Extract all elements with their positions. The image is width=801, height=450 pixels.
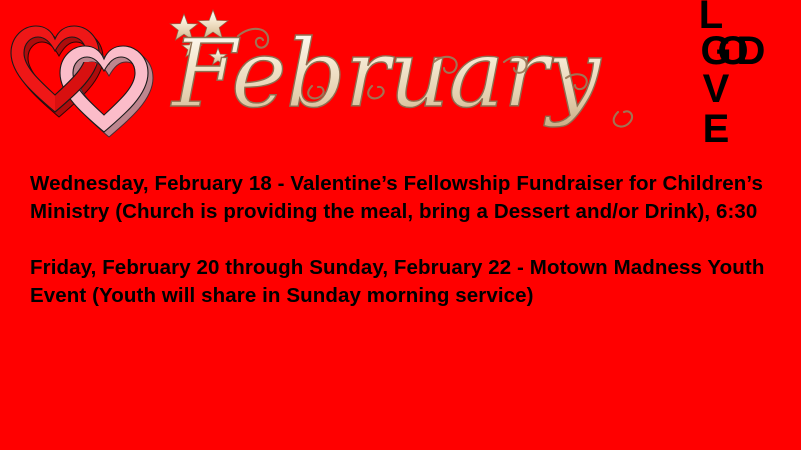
month-title-text: February — [170, 20, 602, 129]
announcement-list: Wednesday, February 18 - Valentine’s Fel… — [30, 170, 775, 310]
crossword-down-letter-v: V — [703, 67, 730, 111]
crossword-down-letter-e: E — [703, 107, 730, 148]
announcement-item: Wednesday, February 18 - Valentine’s Fel… — [30, 170, 775, 226]
announcement-text: Wednesday, February 18 - Valentine’s Fel… — [30, 170, 775, 226]
interlocking-hearts-icon — [0, 6, 165, 141]
month-title: February — [166, 8, 666, 138]
announcement-item: Friday, February 20 through Sunday, Febr… — [30, 254, 775, 310]
announcement-text: Friday, February 20 through Sunday, Febr… — [30, 254, 775, 310]
god-love-crossword: L G D O V E — [664, 0, 801, 148]
february-announcement-slide: February L G D O V E — [0, 0, 801, 450]
